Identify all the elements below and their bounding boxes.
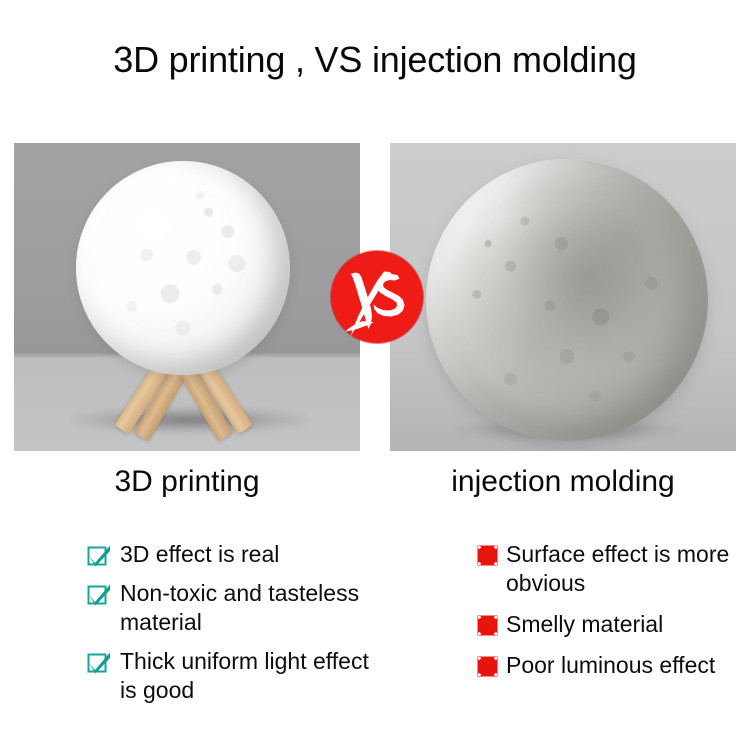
list-item: Smelly material — [476, 610, 750, 639]
pros-list-3d-printing: 3D effect is real Non-toxic and tasteles… — [86, 540, 376, 715]
list-item: 3D effect is real — [86, 540, 376, 569]
list-item: Non-toxic and tasteless material — [86, 579, 376, 637]
vs-badge — [331, 251, 423, 343]
moon-lamp-white — [76, 161, 290, 375]
list-item-label: 3D effect is real — [120, 540, 279, 569]
caption-injection-molding: injection molding — [390, 462, 736, 502]
list-item-label: Non-toxic and tasteless material — [120, 579, 376, 637]
cross-icon — [476, 614, 499, 637]
list-item-label: Poor luminous effect — [506, 651, 715, 680]
check-icon — [86, 543, 112, 569]
list-item-label: Surface effect is more obvious — [506, 540, 750, 598]
cross-icon — [476, 544, 499, 567]
list-item-label: Smelly material — [506, 610, 663, 639]
list-item-label: Thick uniform light effect is good — [120, 647, 376, 705]
check-icon — [86, 650, 112, 676]
check-icon — [86, 582, 112, 608]
photo-injection-molding — [390, 143, 736, 451]
page-title: 3D printing , VS injection molding — [0, 38, 750, 82]
caption-3d-printing: 3D printing — [14, 462, 360, 502]
list-item: Surface effect is more obvious — [476, 540, 750, 598]
feature-lists: 3D effect is real Non-toxic and tasteles… — [0, 540, 750, 750]
photo-3d-printing — [14, 143, 360, 451]
photo-captions: 3D printing injection molding — [0, 462, 750, 512]
list-item: Thick uniform light effect is good — [86, 647, 376, 705]
list-item: Poor luminous effect — [476, 651, 750, 680]
moon-sphere-gray — [426, 159, 708, 441]
cross-icon — [476, 655, 499, 678]
cons-list-injection-molding: Surface effect is more obvious Smelly ma… — [476, 540, 750, 692]
product-comparison-page: 3D printing , VS injection molding — [0, 0, 750, 750]
